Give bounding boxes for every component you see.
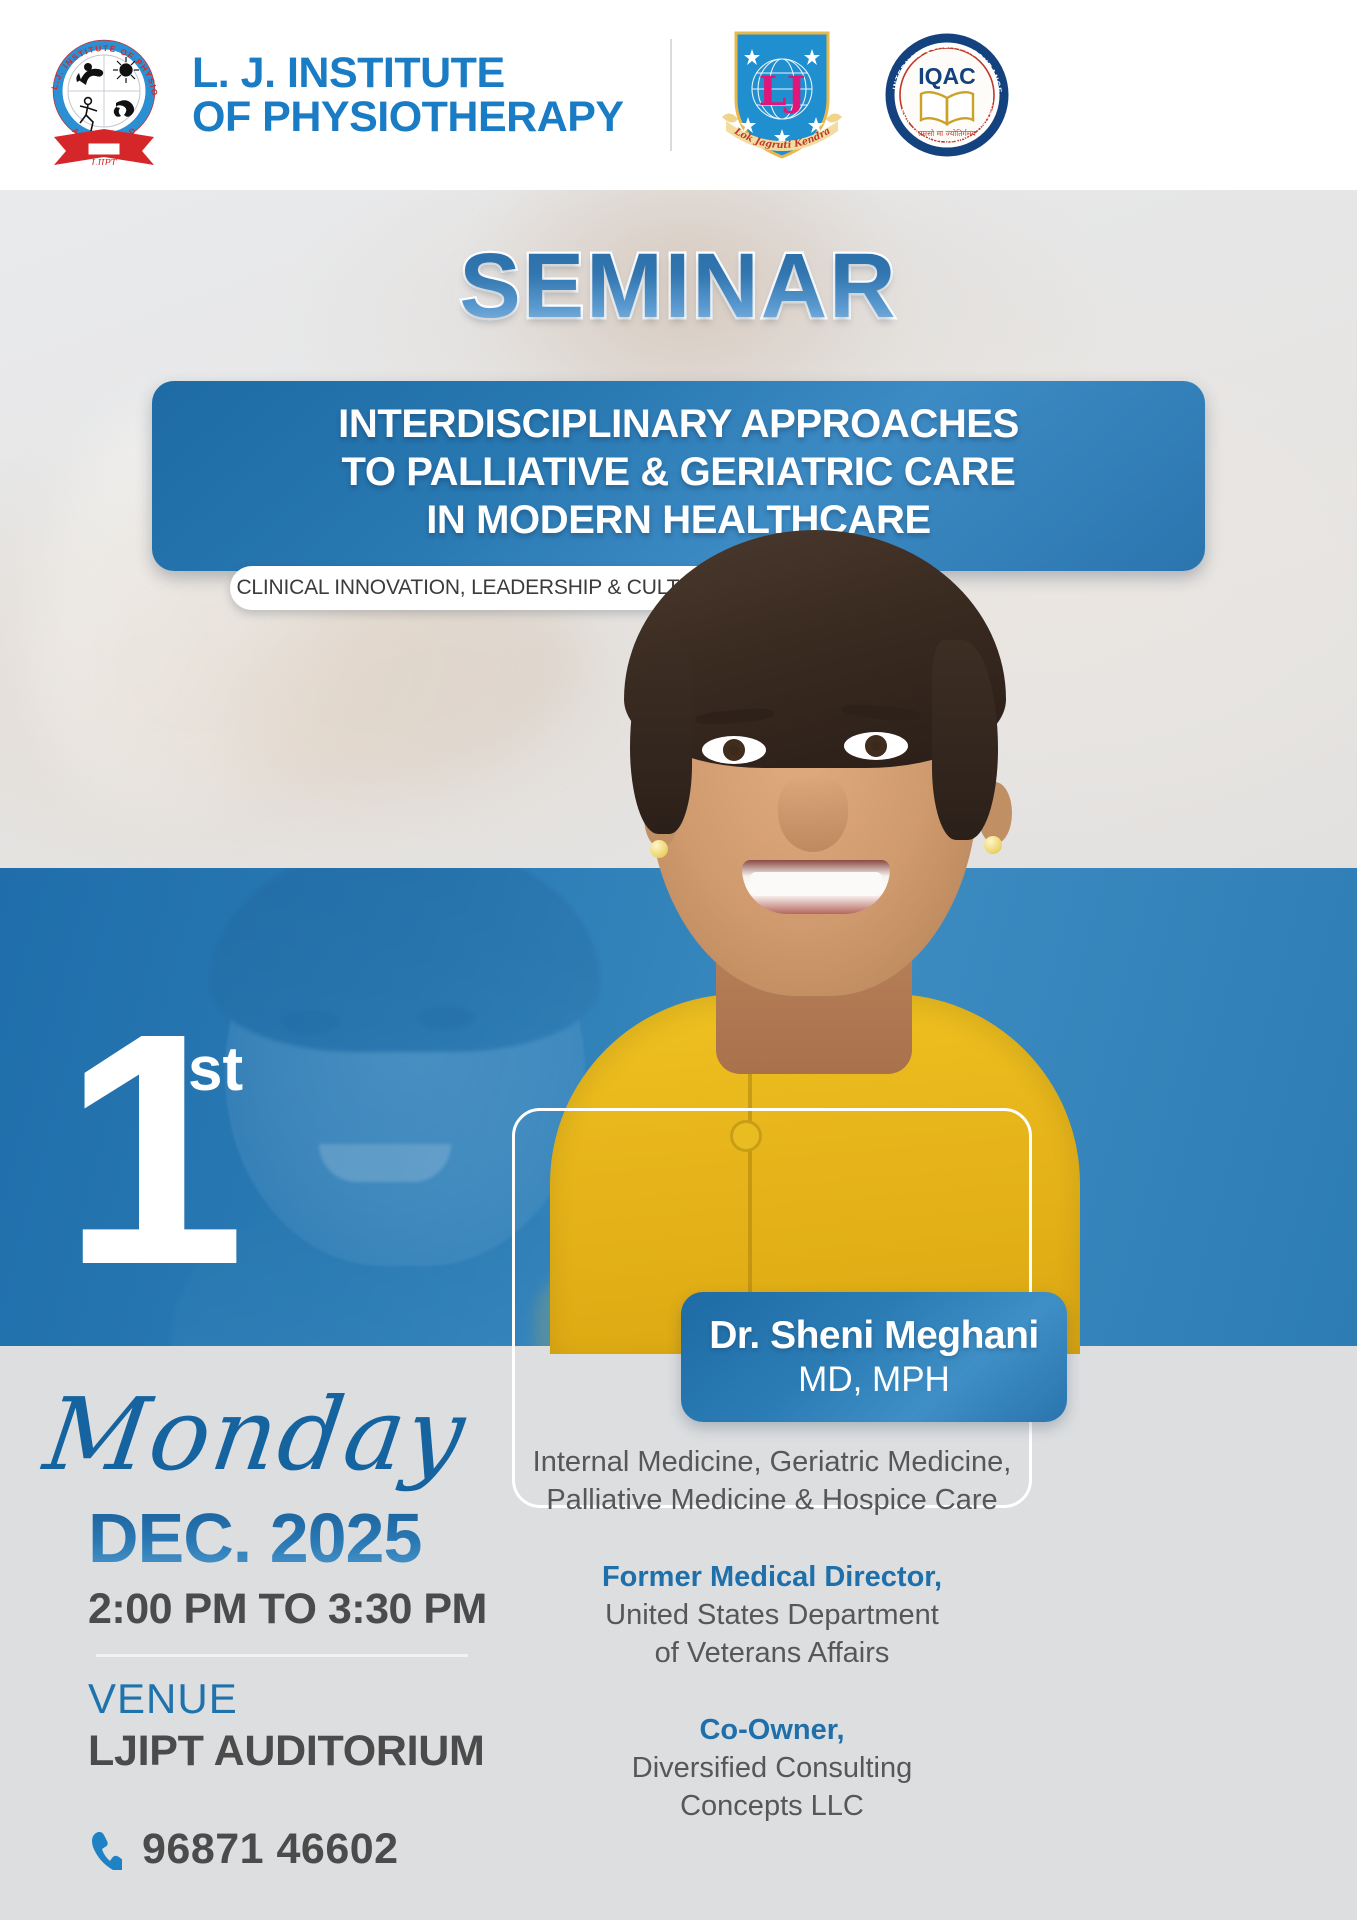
venue-name: LJIPT AUDITORIUM bbox=[88, 1727, 485, 1776]
speaker-role-1: Former Medical Director, United States D… bbox=[512, 1559, 1032, 1672]
ghost-eye-right bbox=[417, 1006, 475, 1030]
iqac-motto-text: तमसो मा ज्योतिर्गमय bbox=[918, 129, 976, 138]
lj-university-shield-icon: LJ Lok Jagruti Kendra University bbox=[718, 25, 846, 165]
portrait-eye-right bbox=[844, 732, 908, 760]
portrait-hair-left bbox=[630, 644, 692, 834]
contact-phone-number: 96871 46602 bbox=[142, 1825, 399, 1874]
svg-text:IQAC: IQAC bbox=[918, 63, 976, 89]
speaker-specialty-line-2: Palliative Medicine & Hospice Care bbox=[512, 1482, 1032, 1520]
ljipt-seal-icon: L.J. INSTITUTE OF PHYSIOTHERAPY AHMEDABA… bbox=[38, 25, 170, 165]
header-divider bbox=[670, 39, 672, 151]
institute-branding: L.J. INSTITUTE OF PHYSIOTHERAPY AHMEDABA… bbox=[38, 25, 624, 165]
speaker-role-2: Co-Owner, Diversified Consulting Concept… bbox=[512, 1712, 1032, 1825]
ghost-mouth bbox=[319, 1144, 451, 1182]
event-time: 2:00 PM TO 3:30 PM bbox=[88, 1585, 487, 1634]
speaker-role-2-title: Co-Owner, bbox=[512, 1712, 1032, 1750]
speaker-role-1-org-line-1: United States Department bbox=[512, 1597, 1032, 1635]
portrait-earring-right bbox=[984, 836, 1002, 854]
iqac-seal-icon: INTERNAL QUALITY ASSURANCE CELL LOK JAGR… bbox=[884, 32, 1010, 158]
portrait-eye-left bbox=[702, 736, 766, 764]
portrait-earring-left bbox=[650, 840, 668, 858]
speaker-degrees: MD, MPH bbox=[798, 1360, 950, 1400]
venue-label: VENUE bbox=[88, 1675, 238, 1723]
speaker-specialty-line-1: Internal Medicine, Geriatric Medicine, bbox=[512, 1444, 1032, 1482]
institute-name: L. J. INSTITUTE OF PHYSIOTHERAPY bbox=[192, 51, 624, 140]
seminar-kicker-outline: SEMINAR bbox=[0, 234, 1357, 339]
portrait-nose bbox=[778, 774, 848, 852]
speaker-name: Dr. Sheni Meghani bbox=[709, 1314, 1039, 1358]
event-day-ordinal: st bbox=[188, 1034, 243, 1105]
speaker-role-1-title: Former Medical Director, bbox=[512, 1559, 1032, 1597]
details-divider bbox=[96, 1654, 468, 1657]
contact-phone-row[interactable]: 96871 46602 bbox=[88, 1825, 399, 1874]
portrait-mouth bbox=[742, 860, 890, 914]
speaker-credentials: Internal Medicine, Geriatric Medicine, P… bbox=[512, 1444, 1032, 1826]
seminar-poster: L.J. INSTITUTE OF PHYSIOTHERAPY AHMEDABA… bbox=[0, 0, 1357, 1920]
ghost-eye-left bbox=[281, 1010, 339, 1034]
svg-text:LJIPT: LJIPT bbox=[90, 159, 117, 165]
phone-icon bbox=[88, 1830, 122, 1870]
university-logos: LJ Lok Jagruti Kendra University bbox=[718, 25, 1010, 165]
event-weekday: Monday bbox=[39, 1385, 472, 1485]
title-line-1: INTERDISCIPLINARY APPROACHES bbox=[338, 400, 1019, 448]
speaker-role-2-org-line-2: Concepts LLC bbox=[512, 1788, 1032, 1826]
event-month-year: DEC. 2025 bbox=[88, 1503, 421, 1573]
speaker-name-badge: Dr. Sheni Meghani MD, MPH bbox=[681, 1292, 1067, 1422]
title-line-2: TO PALLIATIVE & GERIATRIC CARE bbox=[342, 448, 1016, 496]
poster-header: L.J. INSTITUTE OF PHYSIOTHERAPY AHMEDABA… bbox=[0, 0, 1357, 190]
speaker-role-1-org-line-2: of Veterans Affairs bbox=[512, 1635, 1032, 1673]
speaker-role-2-org-line-1: Diversified Consulting bbox=[512, 1750, 1032, 1788]
svg-text:LJ: LJ bbox=[758, 68, 805, 115]
